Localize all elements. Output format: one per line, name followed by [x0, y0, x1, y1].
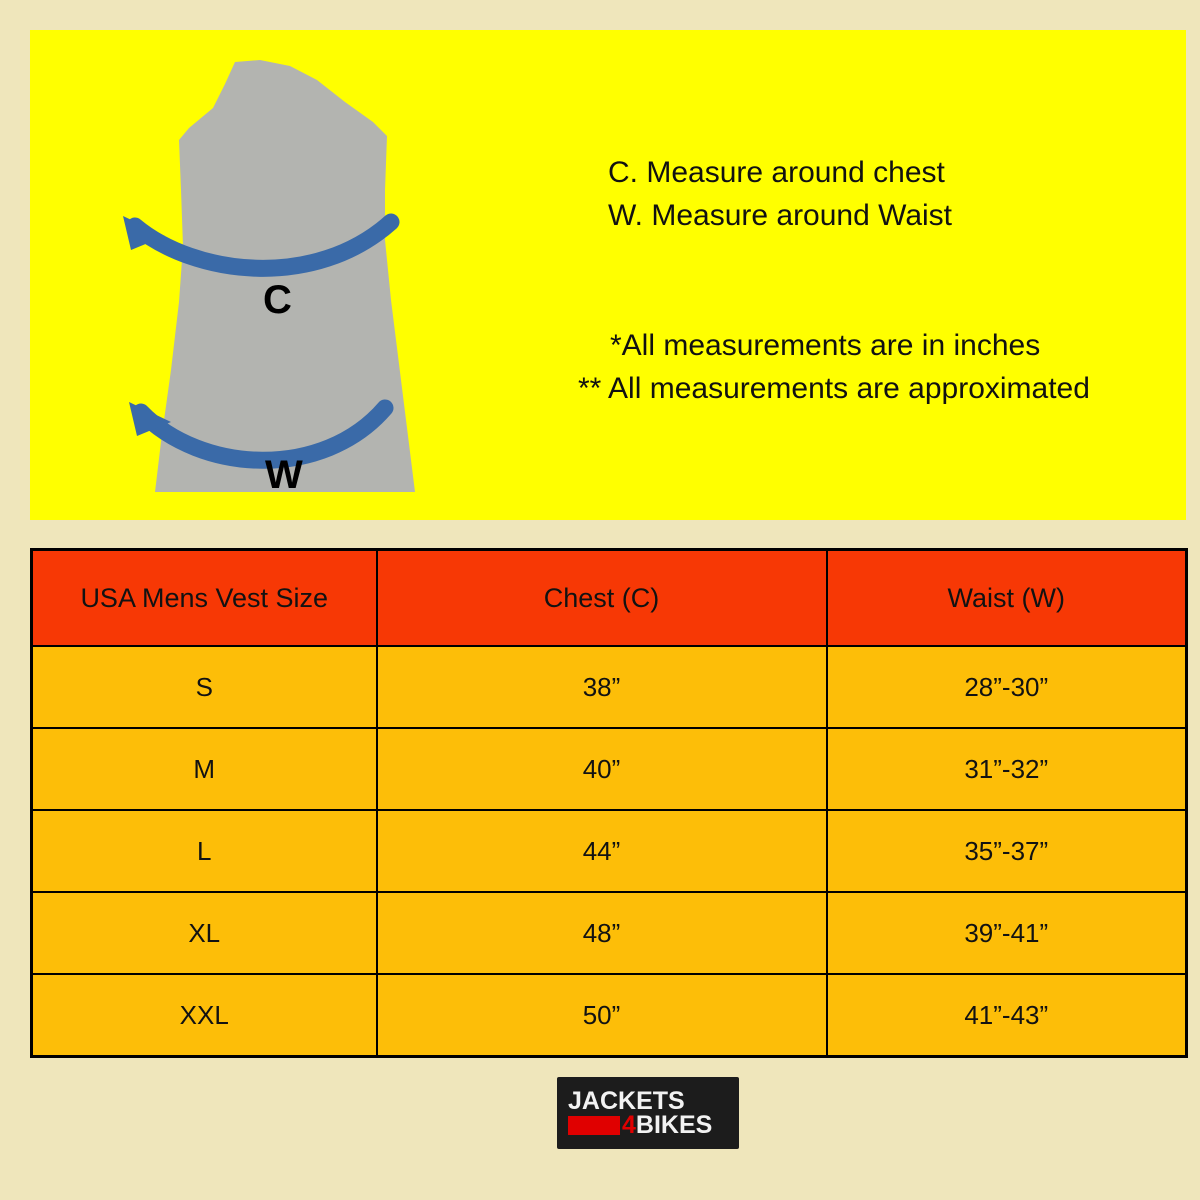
brand-logo: JACKETS 4 BIKES: [557, 1077, 739, 1149]
instruction-waist: W. Measure around Waist: [608, 195, 1188, 238]
brand-logo-bottom: 4 BIKES: [568, 1113, 728, 1137]
column-header-waist: Waist (W): [827, 550, 1187, 647]
column-header-chest: Chest (C): [377, 550, 827, 647]
brand-logo-accent-bar: [568, 1116, 620, 1135]
cell-waist: 28”-30”: [827, 646, 1187, 728]
waist-label: W: [265, 455, 303, 495]
cell-size: L: [32, 810, 377, 892]
cell-chest: 38”: [377, 646, 827, 728]
table-row: XL 48” 39”-41”: [32, 892, 1187, 974]
cell-waist: 39”-41”: [827, 892, 1187, 974]
cell-waist: 31”-32”: [827, 728, 1187, 810]
cell-chest: 48”: [377, 892, 827, 974]
size-chart-page: C W C. Measure around chest W. Measure a…: [0, 0, 1200, 1200]
table-header-row: USA Mens Vest Size Chest (C) Waist (W): [32, 550, 1187, 647]
cell-size: M: [32, 728, 377, 810]
cell-waist: 35”-37”: [827, 810, 1187, 892]
instruction-chest: C. Measure around chest: [608, 152, 1188, 195]
brand-logo-four: 4: [622, 1113, 636, 1138]
cell-size: S: [32, 646, 377, 728]
info-panel: C W C. Measure around chest W. Measure a…: [30, 30, 1186, 520]
note-approximated: ** All measurements are approximated: [578, 368, 1198, 411]
torso-diagram: C W: [85, 40, 445, 520]
cell-chest: 40”: [377, 728, 827, 810]
table-row: M 40” 31”-32”: [32, 728, 1187, 810]
cell-waist: 41”-43”: [827, 974, 1187, 1057]
cell-chest: 50”: [377, 974, 827, 1057]
measurement-notes: *All measurements are in inches ** All m…: [578, 325, 1198, 410]
column-header-size: USA Mens Vest Size: [32, 550, 377, 647]
note-inches: *All measurements are in inches: [578, 325, 1198, 368]
cell-chest: 44”: [377, 810, 827, 892]
brand-logo-inner: JACKETS 4 BIKES: [568, 1087, 728, 1139]
table-row: S 38” 28”-30”: [32, 646, 1187, 728]
table-row: XXL 50” 41”-43”: [32, 974, 1187, 1057]
size-chart-table: USA Mens Vest Size Chest (C) Waist (W) S…: [30, 548, 1188, 1058]
cell-size: XL: [32, 892, 377, 974]
cell-size: XXL: [32, 974, 377, 1057]
table-body: S 38” 28”-30” M 40” 31”-32” L 44” 35”-37…: [32, 646, 1187, 1057]
table-row: L 44” 35”-37”: [32, 810, 1187, 892]
brand-logo-bikes: BIKES: [636, 1113, 712, 1138]
measurement-instructions: C. Measure around chest W. Measure aroun…: [608, 152, 1188, 237]
chest-label: C: [263, 280, 292, 320]
table-header: USA Mens Vest Size Chest (C) Waist (W): [32, 550, 1187, 647]
